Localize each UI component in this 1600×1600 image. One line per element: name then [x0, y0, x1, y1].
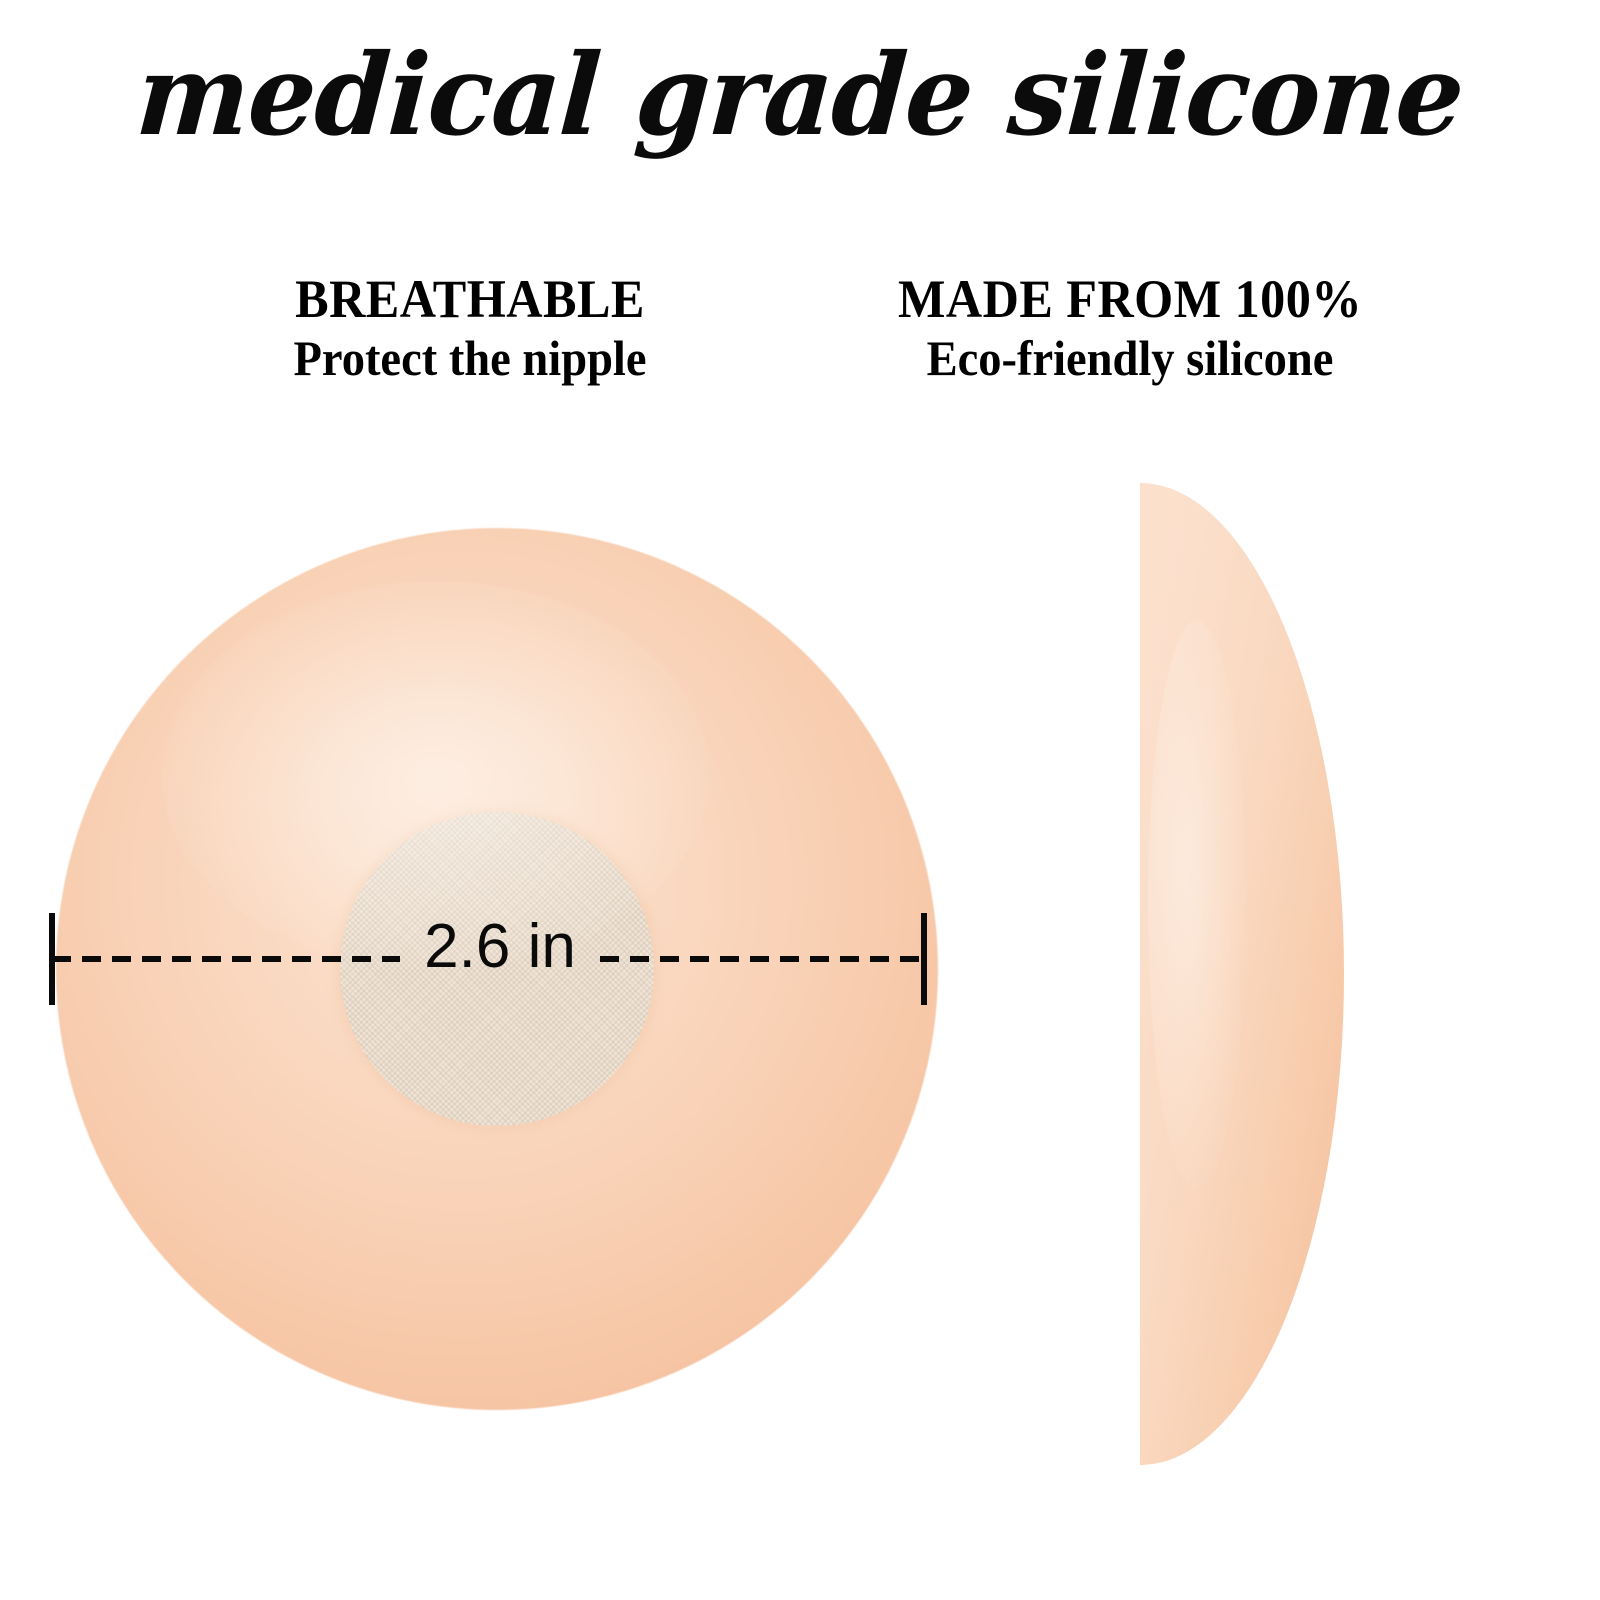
silicone-profile-shape: [1140, 483, 1344, 1465]
product-front-view: [56, 528, 938, 1410]
feature-subtitle: Eco-friendly silicone: [842, 331, 1419, 385]
product-infographic: medical grade silicone BREATHABLE Protec…: [0, 0, 1600, 1600]
feature-title: BREATHABLE: [182, 272, 759, 327]
silicone-disc: [56, 528, 938, 1410]
feature-title: MADE FROM 100%: [842, 272, 1419, 327]
feature-list: BREATHABLE Protect the nipple MADE FROM …: [0, 272, 1600, 402]
product-side-view: [1140, 483, 1344, 1465]
feature-subtitle: Protect the nipple: [182, 331, 759, 385]
textured-nipple-pad: [340, 812, 654, 1126]
feature-eco-silicone: MADE FROM 100% Eco-friendly silicone: [820, 272, 1440, 385]
dimension-tick-left: [49, 913, 55, 1005]
feature-breathable: BREATHABLE Protect the nipple: [160, 272, 780, 385]
page-title: medical grade silicone: [36, 40, 1563, 152]
